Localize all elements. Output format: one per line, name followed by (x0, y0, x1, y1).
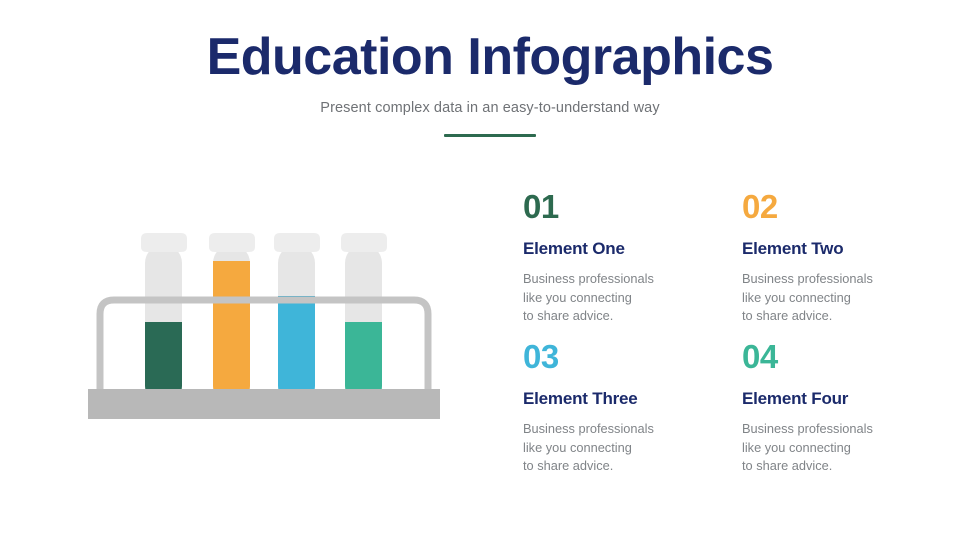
element-description: Business professionals like you connecti… (523, 420, 742, 476)
page-subtitle: Present complex data in an easy-to-under… (0, 100, 980, 116)
element-title: Element Two (742, 240, 943, 257)
element-item-04[interactable]: 04 Element Four Business professionals l… (742, 340, 943, 490)
page-title: Education Infographics (0, 28, 980, 88)
test-tube-rack-illustration (78, 226, 450, 426)
element-number: 04 (742, 340, 943, 373)
test-tube-2 (209, 233, 255, 405)
test-tube-3-liquid (278, 296, 315, 405)
element-item-01[interactable]: 01 Element One Business professionals li… (523, 190, 742, 340)
element-number: 02 (742, 190, 943, 223)
element-description: Business professionals like you connecti… (742, 420, 943, 476)
element-item-03[interactable]: 03 Element Three Business professionals … (523, 340, 742, 490)
element-title: Element One (523, 240, 742, 257)
test-tube-4 (341, 233, 387, 404)
element-title: Element Three (523, 390, 742, 407)
element-grid: 01 Element One Business professionals li… (523, 190, 943, 490)
rack-base (88, 389, 440, 419)
title-divider (444, 134, 536, 137)
element-description: Business professionals like you connecti… (742, 270, 943, 326)
test-tube-2-liquid (213, 261, 250, 405)
test-tube-3 (274, 233, 320, 405)
element-item-02[interactable]: 02 Element Two Business professionals li… (742, 190, 943, 340)
element-title: Element Four (742, 390, 943, 407)
element-number: 03 (523, 340, 742, 373)
element-number: 01 (523, 190, 742, 223)
element-description: Business professionals like you connecti… (523, 270, 742, 326)
test-tube-1 (141, 233, 187, 405)
test-tube-rack-svg (78, 226, 450, 426)
slide-header: Education Infographics Present complex d… (0, 28, 980, 137)
infographic-slide: Education Infographics Present complex d… (0, 0, 980, 551)
